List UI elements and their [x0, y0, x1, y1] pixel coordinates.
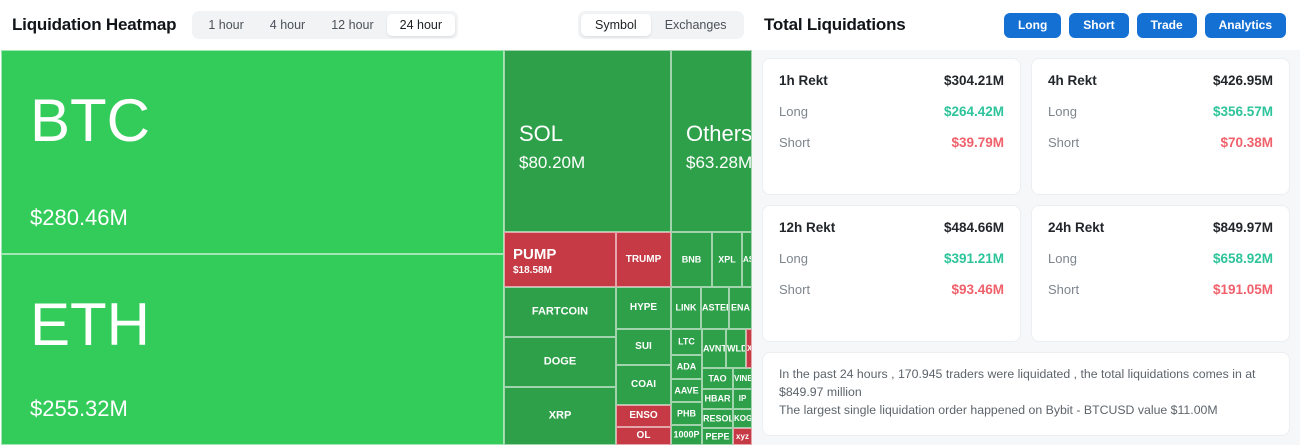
treemap-cell-sol[interactable]: SOL$80.20M: [504, 50, 671, 232]
timeframe-option-24-hour[interactable]: 24 hour: [387, 14, 455, 36]
treemap-cell-value: $280.46M: [30, 207, 128, 229]
treemap-cell-pepe[interactable]: PEPE: [702, 428, 733, 445]
treemap-cell-label: ENA: [730, 304, 751, 313]
treemap-cell-label: SOL: [519, 123, 563, 145]
treemap-cell-xpl[interactable]: XPL: [712, 232, 742, 287]
treemap-cell-label: ASTER: [743, 256, 751, 264]
long-button[interactable]: Long: [1004, 13, 1061, 38]
treemap-cell-label: IP: [734, 395, 751, 403]
treemap-cell-xyz[interactable]: xyz: [733, 428, 752, 445]
long-value: $264.42M: [944, 104, 1004, 119]
treemap-cell-label: RESOLV: [703, 414, 732, 423]
rekt-card-24h: 24h Rekt$849.97MLong$658.92MShort$191.05…: [1031, 205, 1290, 342]
treemap-cell-label: XPL: [713, 255, 741, 264]
analytics-button[interactable]: Analytics: [1205, 13, 1286, 38]
short-label: Short: [779, 135, 810, 150]
treemap-cell-label: 1000P: [672, 431, 701, 440]
treemap-cell-trump[interactable]: TRUMP: [616, 232, 671, 287]
rekt-total: $484.66M: [944, 220, 1004, 235]
summary-line-2: The largest single liquidation order hap…: [779, 402, 1273, 420]
treemap-cell-resolv[interactable]: RESOLV: [702, 409, 733, 428]
treemap-cell-label: AAVE: [672, 386, 701, 395]
treemap-cell-value: $255.32M: [30, 398, 128, 420]
treemap-cell-hype[interactable]: HYPE: [616, 287, 671, 329]
treemap-cell-label: ENSO: [617, 411, 670, 421]
short-button[interactable]: Short: [1069, 13, 1128, 38]
timeframe-option-12-hour[interactable]: 12 hour: [318, 14, 386, 36]
treemap-cell-aave[interactable]: AAVE: [671, 379, 702, 402]
treemap-cell-xrp[interactable]: XRP: [504, 387, 616, 445]
treemap-cell-pump[interactable]: PUMP$18.58M: [504, 232, 616, 287]
treemap-cell-label: LINK: [672, 304, 700, 313]
treemap-cell-coai[interactable]: COAI: [616, 365, 671, 405]
treemap-cell-label: ETH: [30, 295, 150, 355]
timeframe-option-4-hour[interactable]: 4 hour: [257, 14, 318, 36]
rekt-total-row: 4h Rekt$426.95M: [1048, 73, 1273, 88]
treemap-cell-value: $18.58M: [513, 266, 552, 276]
long-label: Long: [779, 251, 808, 266]
long-value: $658.92M: [1213, 251, 1273, 266]
rekt-card-1h: 1h Rekt$304.21MLong$264.42MShort$39.79M: [762, 58, 1021, 195]
view-option-symbol[interactable]: Symbol: [581, 14, 651, 36]
treemap-cell-label: KOGE: [734, 415, 751, 423]
treemap-cell-label: xyz: [734, 433, 751, 441]
long-label: Long: [1048, 104, 1077, 119]
treemap-cell-phb[interactable]: PHB: [671, 402, 702, 425]
treemap-cell-label: PEPE: [703, 432, 732, 441]
treemap-cell-eth[interactable]: ETH$255.32M: [1, 254, 504, 445]
rekt-title: 4h Rekt: [1048, 73, 1097, 88]
stats-panel: 1h Rekt$304.21MLong$264.42MShort$39.79M4…: [752, 50, 1300, 445]
treemap-cell-label: BNB: [672, 255, 711, 264]
treemap-cell-enso[interactable]: ENSO: [616, 405, 671, 427]
treemap-cell-doge[interactable]: DOGE: [504, 337, 616, 387]
treemap-cell-ol[interactable]: OL: [616, 427, 671, 445]
timeframe-option-1-hour[interactable]: 1 hour: [195, 14, 256, 36]
treemap-cell-label: LTC: [672, 338, 701, 347]
rekt-total: $849.97M: [1213, 220, 1273, 235]
treemap-cell-sui[interactable]: SUI: [616, 329, 671, 365]
rekt-total: $426.95M: [1213, 73, 1273, 88]
treemap-cell-bnb[interactable]: BNB: [671, 232, 712, 287]
long-value: $391.21M: [944, 251, 1004, 266]
treemap-cell-label: TAO: [703, 374, 732, 383]
total-liquidations-header: Total Liquidations LongShortTradeAnalyti…: [752, 0, 1300, 50]
rekt-card-12h: 12h Rekt$484.66MLong$391.21MShort$93.46M: [762, 205, 1021, 342]
treemap-cell-wld[interactable]: WLD: [726, 329, 746, 368]
short-label: Short: [1048, 135, 1079, 150]
treemap-cell-label: XMR: [747, 345, 751, 353]
rekt-total: $304.21M: [944, 73, 1004, 88]
short-row: Short$70.38M: [1048, 135, 1273, 150]
short-row: Short$191.05M: [1048, 282, 1273, 297]
short-value: $70.38M: [1220, 135, 1273, 150]
short-value: $39.79M: [951, 135, 1004, 150]
rekt-card-4h: 4h Rekt$426.95MLong$356.57MShort$70.38M: [1031, 58, 1290, 195]
long-row: Long$264.42M: [779, 104, 1004, 119]
treemap-cell-ena[interactable]: ENA: [729, 287, 752, 329]
treemap-cell-ip[interactable]: IP: [733, 389, 752, 409]
treemap-cell-fartcoin[interactable]: FARTCOIN: [504, 287, 616, 337]
short-row: Short$93.46M: [779, 282, 1004, 297]
treemap-cell-aster[interactable]: ASTER: [742, 232, 752, 287]
long-label: Long: [779, 104, 808, 119]
treemap-cell-label: AVNT: [703, 344, 725, 353]
rekt-title: 1h Rekt: [779, 73, 828, 88]
treemap-cell-label: HYPE: [617, 303, 670, 313]
treemap-cell-tao[interactable]: TAO: [702, 368, 733, 389]
rekt-card-grid: 1h Rekt$304.21MLong$264.42MShort$39.79M4…: [762, 58, 1290, 342]
treemap-cell-avnt[interactable]: AVNT: [702, 329, 726, 368]
rekt-total-row: 24h Rekt$849.97M: [1048, 220, 1273, 235]
treemap-cell-aster[interactable]: ASTER: [701, 287, 729, 329]
treemap-cell-label: PHB: [672, 409, 701, 418]
rekt-total-row: 12h Rekt$484.66M: [779, 220, 1004, 235]
timeframe-selector[interactable]: 1 hour4 hour12 hour24 hour: [192, 11, 458, 39]
treemap-cell-label: ASTER: [702, 304, 728, 313]
heatmap-header: Liquidation Heatmap 1 hour4 hour12 hour2…: [0, 0, 752, 50]
rekt-title: 24h Rekt: [1048, 220, 1104, 235]
treemap-cell-label: VINE: [734, 375, 751, 383]
rekt-total-row: 1h Rekt$304.21M: [779, 73, 1004, 88]
treemap-cell-value: $80.20M: [519, 154, 585, 171]
view-option-exchanges[interactable]: Exchanges: [651, 14, 741, 36]
treemap-cell-ada[interactable]: ADA: [671, 355, 702, 379]
total-liquidations-title: Total Liquidations: [764, 15, 906, 35]
summary-card: In the past 24 hours , 170.945 traders w…: [762, 352, 1290, 436]
view-mode-selector[interactable]: SymbolExchanges: [578, 11, 744, 39]
treemap-cell-label: PUMP: [513, 247, 556, 262]
treemap-cell-label: TRUMP: [617, 255, 670, 265]
page-title: Liquidation Heatmap: [12, 15, 176, 35]
rekt-title: 12h Rekt: [779, 220, 835, 235]
treemap-cell-label: XRP: [505, 411, 615, 422]
long-row: Long$391.21M: [779, 251, 1004, 266]
short-label: Short: [1048, 282, 1079, 297]
treemap-cell-value: $63.28M: [686, 154, 752, 171]
treemap-cell-hbar[interactable]: HBAR: [702, 389, 733, 409]
long-label: Long: [1048, 251, 1077, 266]
treemap-cell-label: COAI: [617, 380, 670, 390]
trade-button[interactable]: Trade: [1137, 13, 1197, 38]
action-button-group: LongShortTradeAnalytics: [1004, 13, 1286, 38]
treemap-cell-btc[interactable]: BTC$280.46M: [1, 50, 504, 254]
treemap-cell-vine[interactable]: VINE: [733, 368, 752, 389]
treemap-cell-label: OL: [617, 431, 670, 441]
long-row: Long$356.57M: [1048, 104, 1273, 119]
treemap-cell-link[interactable]: LINK: [671, 287, 701, 329]
treemap-cell-koge[interactable]: KOGE: [733, 409, 752, 428]
treemap-cell-others[interactable]: Others$63.28M: [671, 50, 752, 232]
treemap-cell-label: Others: [686, 123, 752, 145]
short-label: Short: [779, 282, 810, 297]
long-row: Long$658.92M: [1048, 251, 1273, 266]
liquidation-treemap[interactable]: BTC$280.46METH$255.32MSOL$80.20MOthers$6…: [0, 50, 752, 445]
treemap-cell-label: BTC: [30, 91, 150, 151]
treemap-cell-label: SUI: [617, 342, 670, 352]
long-value: $356.57M: [1213, 104, 1273, 119]
treemap-cell-label: HBAR: [703, 395, 732, 404]
summary-line-1: In the past 24 hours , 170.945 traders w…: [779, 366, 1273, 402]
short-value: $93.46M: [951, 282, 1004, 297]
treemap-cell-1000p[interactable]: 1000P: [671, 425, 702, 445]
short-row: Short$39.79M: [779, 135, 1004, 150]
treemap-cell-label: FARTCOIN: [505, 307, 615, 318]
treemap-cell-label: WLD: [727, 344, 745, 353]
treemap-cell-ltc[interactable]: LTC: [671, 329, 702, 355]
liquidation-dashboard: Liquidation Heatmap 1 hour4 hour12 hour2…: [0, 0, 1300, 445]
treemap-cell-label: DOGE: [505, 357, 615, 368]
short-value: $191.05M: [1213, 282, 1273, 297]
treemap-cell-label: ADA: [672, 363, 701, 372]
